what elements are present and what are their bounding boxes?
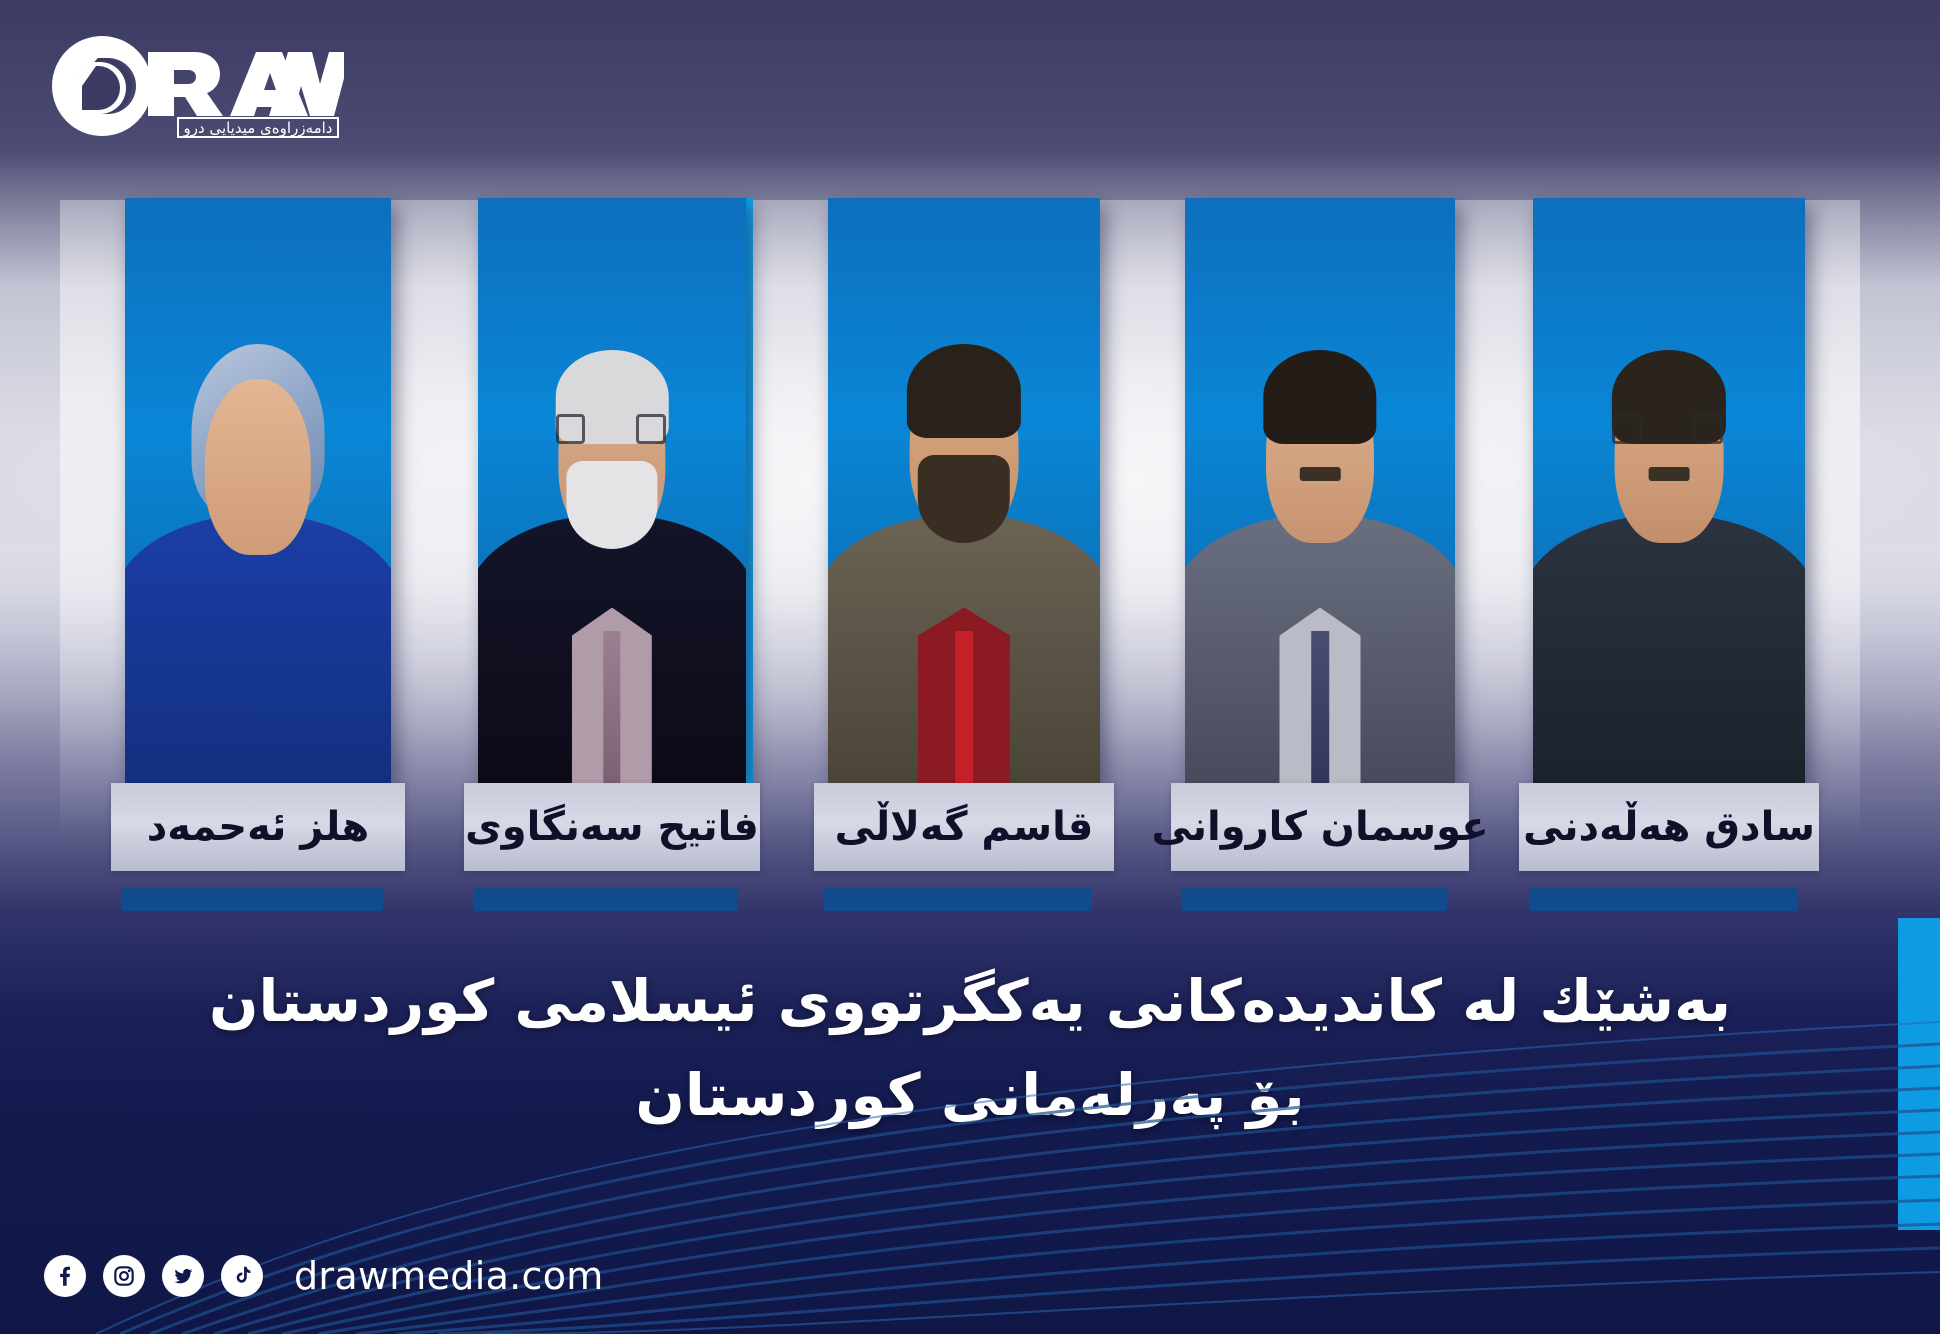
candidate-underline [121,887,383,911]
candidate-underline [1181,887,1447,911]
candidate-card: عوسمان کاروانی [1185,198,1455,783]
candidate-photo [1185,198,1455,783]
candidate-nameplate: فاتیح سەنگاوی [464,783,760,871]
instagram-icon[interactable] [103,1255,145,1297]
candidate-underline [474,887,738,911]
candidate-name: قاسم گەلاڵی [835,804,1094,850]
candidate-underline [1529,887,1797,911]
candidate-photo [125,198,391,783]
candidate-card: قاسم گەلاڵی [828,198,1100,783]
candidate-photo [828,198,1100,783]
candidate-name: هلز ئەحمەد [147,804,370,850]
candidate-card: هلز ئەحمەد [125,198,391,783]
candidate-nameplate: قاسم گەلاڵی [814,783,1114,871]
candidate-nameplate: عوسمان کاروانی [1171,783,1469,871]
footer: drawmedia.com [44,1254,604,1298]
headline-line-1: بەشێك لە کاندیدەکانی یەکگرتووی ئیسلامی ک… [0,955,1940,1049]
candidate-nameplate: سادق هەڵەدنی [1519,783,1819,871]
twitter-icon[interactable] [162,1255,204,1297]
headline-line-2: بۆ پەرلەمانی کوردستان [0,1049,1940,1143]
headline: بەشێك لە کاندیدەکانی یەکگرتووی ئیسلامی ک… [0,955,1940,1143]
candidate-card: فاتیح سەنگاوی [478,198,746,783]
candidate-nameplate: هلز ئەحمەد [111,783,405,871]
candidate-photo [1533,198,1805,783]
tiktok-icon[interactable] [221,1255,263,1297]
candidate-photo [478,198,746,783]
candidates-row: هلز ئەحمەد فاتیح سەنگاوی [0,0,1940,910]
candidate-underline [824,887,1092,911]
candidate-card: سادق هەڵەدنی [1533,198,1805,783]
candidate-name: سادق هەڵەدنی [1523,804,1815,850]
poster-root: دامەزراوەی میدیایی درو هلز ئەحمەد [0,0,1940,1334]
candidate-name: عوسمان کاروانی [1152,804,1489,850]
right-accent-bar [1898,918,1940,1230]
facebook-icon[interactable] [44,1255,86,1297]
candidate-name: فاتیح سەنگاوی [465,804,759,850]
website-url[interactable]: drawmedia.com [294,1254,604,1298]
